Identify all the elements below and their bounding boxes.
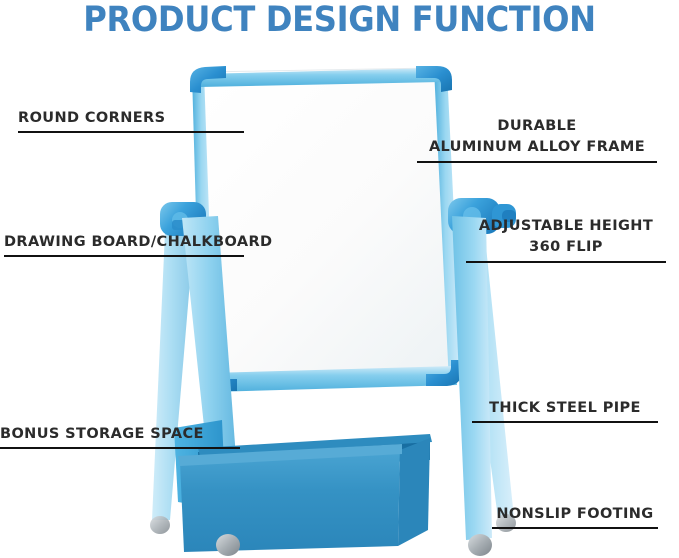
callout-adjustable-height: ADJUSTABLE HEIGHT 360 FLIP — [466, 216, 666, 263]
caster-foot-front-right — [468, 534, 492, 556]
callout-bonus-storage-label: BONUS STORAGE SPACE — [0, 424, 240, 444]
storage-bin — [178, 434, 432, 552]
callout-drawing-board: DRAWING BOARD/CHALKBOARD — [4, 232, 244, 257]
callout-round-corners-label: ROUND CORNERS — [18, 108, 244, 128]
callout-durable-frame-rule — [417, 161, 657, 163]
page-title: PRODUCT DESIGN FUNCTION — [27, 0, 652, 40]
callout-thick-steel-pipe-rule — [472, 421, 658, 423]
callout-drawing-board-rule — [4, 255, 244, 257]
callout-thick-steel-pipe-label: THICK STEEL PIPE — [472, 398, 658, 418]
storage-bin-right-side — [398, 438, 430, 546]
caster-foot-front-left — [216, 534, 240, 556]
callout-round-corners-rule — [18, 131, 244, 133]
callout-nonslip-footing-rule — [492, 527, 658, 529]
callout-bonus-storage-rule — [0, 447, 240, 449]
callout-durable-frame-label-line2: ALUMINUM ALLOY FRAME — [417, 137, 657, 158]
callout-drawing-board-label: DRAWING BOARD/CHALKBOARD — [4, 232, 244, 252]
callout-thick-steel-pipe: THICK STEEL PIPE — [472, 398, 658, 423]
callout-round-corners: ROUND CORNERS — [18, 108, 244, 133]
callout-adjustable-height-label-line2: 360 FLIP — [466, 237, 666, 258]
caster-foot-rear-left — [150, 516, 170, 534]
callout-durable-frame-label-line1: DURABLE — [417, 116, 657, 137]
callout-adjustable-height-rule — [466, 261, 666, 263]
callout-nonslip-footing-label: NONSLIP FOOTING — [492, 504, 658, 524]
callout-nonslip-footing: NONSLIP FOOTING — [492, 504, 658, 529]
callout-adjustable-height-label-line1: ADJUSTABLE HEIGHT — [466, 216, 666, 237]
callout-bonus-storage: BONUS STORAGE SPACE — [0, 424, 240, 449]
storage-bin-front — [180, 450, 400, 552]
callout-durable-frame: DURABLE ALUMINUM ALLOY FRAME — [417, 116, 657, 163]
infographic-canvas: PRODUCT DESIGN FUNCTION — [0, 0, 679, 558]
